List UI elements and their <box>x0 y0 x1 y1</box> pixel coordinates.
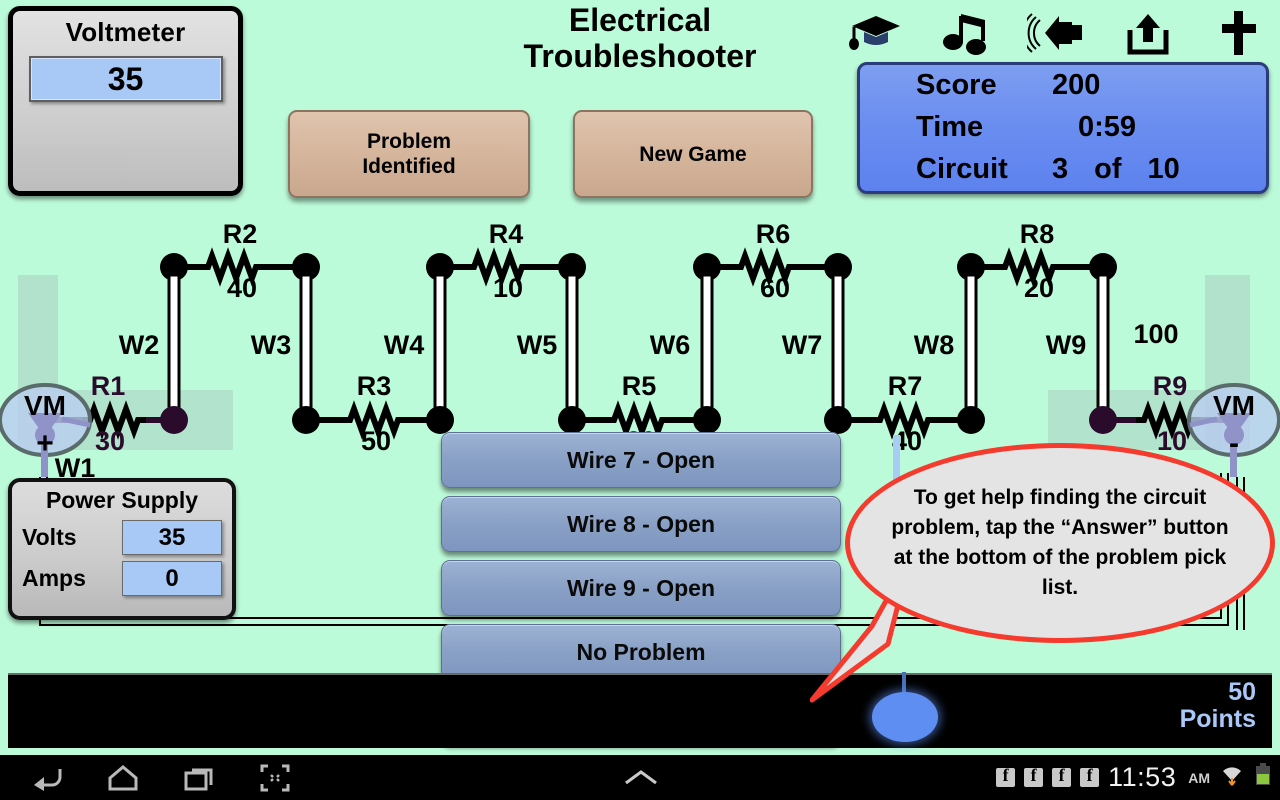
time-row: Time 0:59 <box>874 111 1252 153</box>
toolbar-icons <box>845 5 1270 60</box>
node <box>426 406 454 434</box>
expand-up-icon[interactable] <box>619 761 663 795</box>
wifi-icon <box>1219 764 1245 791</box>
svg-text:50: 50 <box>361 426 391 456</box>
page-title-line2: Troubleshooter <box>430 38 850 74</box>
pick-item-wire9-open[interactable]: Wire 9 - Open <box>441 560 841 616</box>
graduation-cap-icon[interactable] <box>845 7 907 59</box>
amps-label: Amps <box>22 565 122 592</box>
svg-text:R6: R6 <box>756 219 791 249</box>
hint-bubble-text: To get help finding the circuit problem,… <box>883 483 1238 603</box>
power-supply-panel: Power Supply Volts 35 Amps 0 <box>8 478 236 620</box>
svg-text:+: + <box>36 427 54 460</box>
battery-icon <box>1254 763 1272 792</box>
svg-text:W8: W8 <box>914 330 955 360</box>
points-label: Points <box>1180 706 1256 733</box>
time-label: Time <box>874 111 1052 144</box>
app-root: Voltmeter 35 Electrical Troubleshooter <box>0 0 1280 755</box>
recents-icon[interactable] <box>178 761 220 795</box>
svg-text:W9: W9 <box>1046 330 1087 360</box>
svg-text:40: 40 <box>227 273 257 303</box>
node <box>693 406 721 434</box>
score-value: 200 <box>1052 69 1100 102</box>
facebook-notification-icon <box>1052 768 1071 787</box>
circuit-row: Circuit 3 of 10 <box>874 153 1252 195</box>
page-title-line1: Electrical <box>430 2 850 38</box>
voltmeter-label: Voltmeter <box>13 17 238 48</box>
pick-item-wire8-open[interactable]: Wire 8 - Open <box>441 496 841 552</box>
score-panel: Score 200 Time 0:59 Circuit 3 of 10 <box>857 62 1269 194</box>
voltmeter-readout: 35 <box>29 56 223 102</box>
svg-text:R8: R8 <box>1020 219 1055 249</box>
volts-value[interactable]: 35 <box>122 520 222 555</box>
amps-value[interactable]: 0 <box>122 561 222 596</box>
svg-text:R3: R3 <box>357 371 392 401</box>
new-game-button[interactable]: New Game <box>573 110 813 198</box>
speaker-volume-icon[interactable] <box>1027 7 1089 59</box>
problem-identified-label-line1: Problem <box>362 129 455 154</box>
points-value: 50 <box>1180 679 1256 706</box>
page-title: Electrical Troubleshooter <box>430 2 850 74</box>
facebook-notification-icon <box>996 768 1015 787</box>
status-ampm: AM <box>1188 770 1210 786</box>
svg-text:W2: W2 <box>119 330 160 360</box>
volts-row: Volts 35 <box>12 520 232 555</box>
facebook-notification-icon <box>1024 768 1043 787</box>
screenshot-icon[interactable] <box>254 761 296 795</box>
svg-text:R7: R7 <box>888 371 923 401</box>
volts-label: Volts <box>22 524 122 551</box>
bottom-status-strip: 50 Points <box>8 673 1272 748</box>
node <box>160 406 188 434</box>
svg-text:-: - <box>1229 427 1239 460</box>
svg-text:100: 100 <box>1133 319 1178 349</box>
voltmeter-panel: Voltmeter 35 <box>8 6 243 196</box>
svg-text:R5: R5 <box>622 371 657 401</box>
problem-identified-button[interactable]: Problem Identified <box>288 110 530 198</box>
svg-text:60: 60 <box>760 273 790 303</box>
back-icon[interactable] <box>26 761 68 795</box>
svg-text:W7: W7 <box>782 330 823 360</box>
navbar-icon-group <box>10 755 296 800</box>
node <box>957 406 985 434</box>
svg-text:VM: VM <box>1213 390 1255 421</box>
svg-text:W3: W3 <box>251 330 292 360</box>
circuit-label: Circuit <box>874 153 1052 186</box>
points-display: 50 Points <box>1180 679 1256 733</box>
svg-text:W4: W4 <box>384 330 425 360</box>
hint-bubble: To get help finding the circuit problem,… <box>845 443 1275 643</box>
svg-text:R9: R9 <box>1153 371 1188 401</box>
facebook-notification-icon <box>1080 768 1099 787</box>
svg-text:30: 30 <box>95 426 125 456</box>
music-note-icon[interactable] <box>936 7 998 59</box>
node <box>1089 406 1117 434</box>
amps-row: Amps 0 <box>12 561 232 596</box>
node <box>824 406 852 434</box>
node <box>558 406 586 434</box>
system-status-area: 11:53 AM <box>996 755 1272 800</box>
pick-item-no-problem[interactable]: No Problem <box>441 624 841 680</box>
svg-text:R4: R4 <box>489 219 524 249</box>
android-navbar: 11:53 AM <box>0 755 1280 800</box>
svg-text:20: 20 <box>1024 273 1054 303</box>
svg-text:10: 10 <box>1157 426 1187 456</box>
svg-text:R2: R2 <box>223 219 258 249</box>
score-row: Score 200 <box>874 69 1252 111</box>
circuit-of: of <box>1068 153 1121 186</box>
problem-identified-label-line2: Identified <box>362 154 455 179</box>
pick-item-wire7-open[interactable]: Wire 7 - Open <box>441 432 841 488</box>
svg-text:VM: VM <box>24 390 66 421</box>
score-label: Score <box>874 69 1052 102</box>
svg-text:W5: W5 <box>517 330 558 360</box>
node <box>292 406 320 434</box>
home-icon[interactable] <box>102 761 144 795</box>
circuit-current: 3 <box>1052 153 1068 186</box>
power-supply-title: Power Supply <box>12 487 232 514</box>
svg-text:10: 10 <box>493 273 523 303</box>
voltmeter-probe-negative: VM - <box>1189 385 1279 477</box>
time-value: 0:59 <box>1052 111 1136 144</box>
svg-text:R1: R1 <box>91 371 126 401</box>
cross-icon[interactable] <box>1208 7 1270 59</box>
status-clock: 11:53 <box>1108 762 1176 793</box>
share-upload-icon[interactable] <box>1117 7 1179 59</box>
circuit-total: 10 <box>1122 153 1180 186</box>
svg-text:W6: W6 <box>650 330 691 360</box>
